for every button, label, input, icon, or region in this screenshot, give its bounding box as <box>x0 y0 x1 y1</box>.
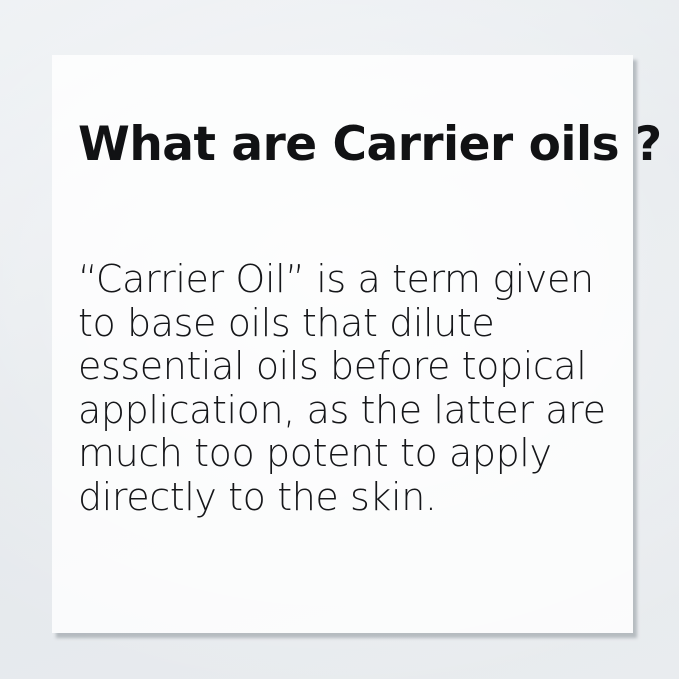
body-line: much too potent to apply <box>78 432 618 476</box>
page-title: What are Carrier oils ? <box>78 117 662 172</box>
cinnamon-stick-icon <box>0 122 32 338</box>
body-line: to base oils that dilute <box>78 302 618 346</box>
infographic-canvas: What are Carrier oils ? “Carrier Oil” is… <box>0 0 679 679</box>
twine-bow-icon <box>399 0 486 54</box>
body-line: “Carrier Oil” is a term given <box>78 258 618 302</box>
body-line: essential oils before topical <box>78 345 618 389</box>
body-paragraph: “Carrier Oil” is a term givento base oil… <box>78 258 618 519</box>
twine-bow-icon <box>435 18 497 61</box>
body-line: directly to the skin. <box>78 476 618 520</box>
body-line: application, as the latter are <box>78 389 618 433</box>
content-card-inner: What are Carrier oils ? “Carrier Oil” is… <box>52 55 633 633</box>
content-card: What are Carrier oils ? “Carrier Oil” is… <box>52 55 633 633</box>
twine-bow-icon <box>401 4 453 57</box>
